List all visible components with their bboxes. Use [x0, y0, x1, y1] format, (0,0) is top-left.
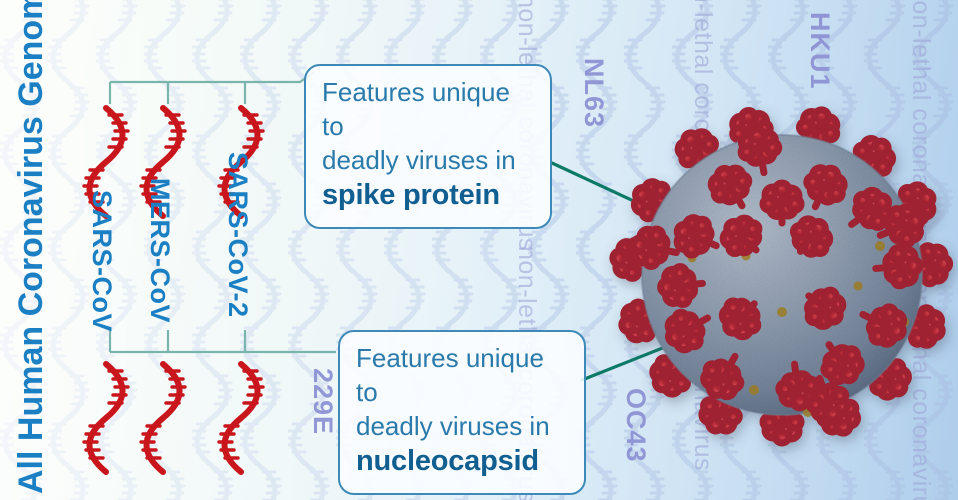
callout-line-1: Features unique to — [322, 76, 534, 144]
virus-label-mers-cov: MERS-CoV — [146, 178, 173, 323]
callout-line-2: deadly viruses in — [322, 144, 534, 178]
virus-label-sars-cov-2: SARS-CoV-2 — [224, 152, 251, 318]
virus-label-sars-cov: SARS-CoV — [88, 190, 115, 332]
callout-nucleocapsid: Features unique to deadly viruses in nuc… — [338, 330, 586, 495]
callout-line-1: Features unique to — [356, 342, 568, 410]
callout-spike-protein: Features unique to deadly viruses in spi… — [304, 64, 552, 229]
callout-highlight: spike protein — [322, 177, 534, 215]
virus-label-nl63: NL63 — [580, 58, 607, 128]
callout-highlight: nucleocapsid — [356, 443, 568, 481]
page-title: All Human Coronavirus Genomes — [14, 6, 48, 494]
virus-label-oc43: OC43 — [622, 388, 649, 463]
callout-line-2: deadly viruses in — [356, 410, 568, 444]
coronavirus-genomes-infographic: non-lethal coronavirus non-lethal corona… — [0, 0, 958, 500]
virus-label-229e: 229E — [309, 368, 336, 435]
virus-label-hku1: HKU1 — [806, 12, 833, 90]
